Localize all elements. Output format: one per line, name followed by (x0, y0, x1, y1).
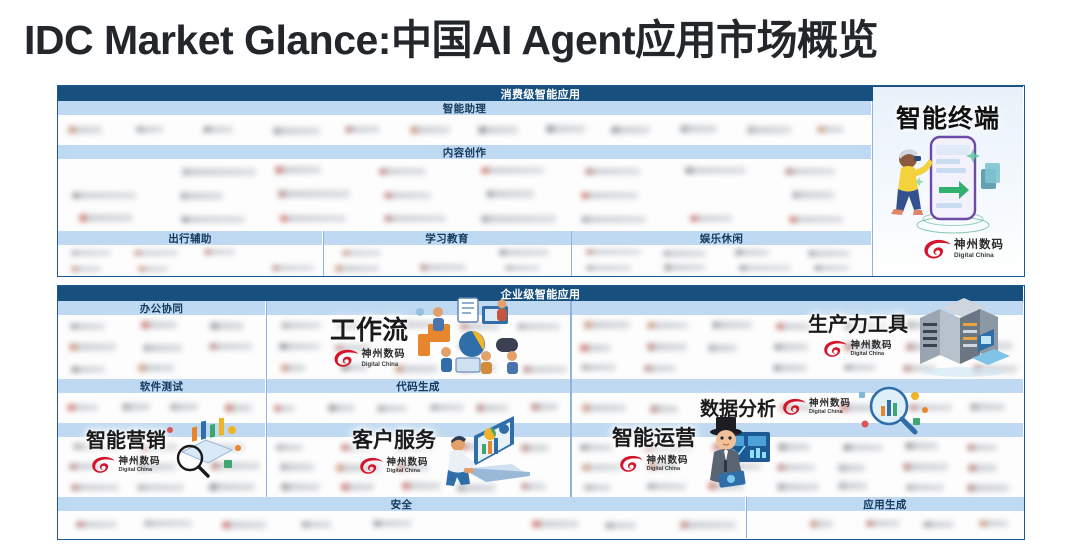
brand-name-en: Digital China (646, 467, 688, 473)
divider-enterprise-col1 (266, 301, 268, 497)
brand-name-cn: 神州数码 (646, 456, 688, 466)
vendor-logo-placeholder (420, 264, 466, 271)
digital-china-swoosh-icon (333, 349, 359, 369)
vendor-logo-placeholder (584, 484, 611, 492)
vendor-logo-placeholder (272, 265, 314, 272)
vendor-logo-placeholder (69, 343, 117, 351)
digital-china-logo: 神州数码 Digital China (333, 349, 406, 369)
enterprise-logo-row-workflow (267, 315, 570, 379)
enterprise-col-label-software-testing: 软件测试 (58, 379, 265, 393)
vendor-logo-placeholder (79, 214, 132, 222)
vendor-logo-placeholder (499, 249, 549, 256)
vendor-logo-placeholder (521, 444, 548, 452)
vendor-logo-placeholder (486, 190, 534, 198)
vendor-logo-placeholder (903, 463, 949, 471)
enterprise-logo-row-software-testing (58, 393, 265, 423)
digital-china-logo: 神州数码 Digital China (91, 456, 160, 475)
vendor-logo-placeholder (838, 482, 867, 490)
vendor-logo-placeholder (810, 520, 833, 528)
vendor-logo-placeholder (584, 321, 630, 329)
vendor-logo-placeholder (211, 462, 261, 470)
vendor-logo-placeholder (225, 404, 252, 412)
vendor-logo-placeholder (611, 126, 650, 134)
digital-china-swoosh-icon (823, 340, 847, 359)
vendor-logo-placeholder (481, 167, 545, 175)
vendor-logo-placeholder (586, 265, 631, 272)
vendor-logo-placeholder (137, 484, 184, 492)
divider-education-entertainment (571, 231, 573, 276)
vendor-logo-placeholder (459, 342, 485, 350)
vendor-logo-placeholder (377, 405, 407, 413)
divider-enterprise-col2 (570, 301, 572, 497)
vendor-logo-placeholder (906, 343, 945, 351)
vendor-logo-placeholder (838, 464, 864, 472)
vendor-logo-placeholder (647, 343, 687, 351)
brand-name-en: Digital China (386, 469, 428, 475)
vendor-logo-placeholder (903, 365, 936, 373)
brand-name-cn: 神州数码 (809, 399, 851, 409)
consumer-logo-row-education (324, 245, 571, 276)
vendor-logo-placeholder (582, 404, 626, 412)
vendor-logo-placeholder (970, 403, 1006, 411)
vendor-logo-placeholder (141, 321, 176, 329)
enterprise-col-label-code-generation: 代码生成 (267, 379, 570, 393)
digital-china-swoosh-icon (359, 457, 383, 476)
vendor-logo-placeholder (384, 192, 430, 200)
vendor-logo-placeholder (967, 484, 1009, 492)
vendor-logo-placeholder (276, 444, 303, 452)
vendor-logo-placeholder (906, 484, 944, 492)
digital-china-swoosh-icon (782, 398, 806, 417)
vendor-logo-placeholder (843, 444, 883, 452)
vendor-logo-placeholder (735, 249, 769, 256)
vendor-logo-placeholder (430, 404, 464, 412)
enterprise-feature-productivity: 生产力工具 神州数码 Digital China (808, 308, 908, 359)
logo-grid (58, 115, 871, 145)
logo-grid (267, 393, 570, 423)
vendor-logo-placeholder (71, 250, 111, 257)
consumer-logo-row-travel (58, 245, 322, 276)
vendor-logo-placeholder (532, 520, 578, 528)
enterprise-row1-band-right (571, 301, 1023, 315)
enterprise-logo-row-security (58, 511, 745, 538)
enterprise-logo-row-productivity (571, 315, 1023, 379)
consumer-logo-row-smart-assistant (58, 115, 871, 145)
vendor-logo-placeholder (180, 192, 223, 200)
vendor-logo-placeholder (345, 126, 380, 134)
vendor-logo-placeholder (478, 126, 518, 134)
vendor-logo-placeholder (71, 366, 104, 374)
vendor-logo-placeholder (708, 344, 737, 352)
vendor-logo-placeholder (792, 191, 834, 199)
logo-grid (58, 245, 322, 276)
vendor-logo-placeholder (663, 250, 707, 257)
vendor-logo-placeholder (278, 190, 350, 198)
vendor-logo-placeholder (979, 520, 1009, 528)
vendor-logo-placeholder (905, 321, 935, 329)
brand-name-cn: 神州数码 (850, 341, 892, 351)
vendor-logo-placeholder (476, 404, 508, 412)
vendor-logo-placeholder (967, 444, 997, 452)
vendor-logo-placeholder (203, 126, 233, 134)
vendor-logo-placeholder (685, 167, 747, 175)
digital-china-logo: 神州数码 Digital China (359, 457, 428, 476)
vendor-logo-placeholder (410, 126, 450, 134)
enterprise-logo-row-office-collab (58, 315, 265, 379)
logo-grid (267, 315, 570, 379)
vendor-logo-placeholder (605, 522, 636, 530)
vendor-logo-placeholder (209, 483, 255, 491)
vendor-logo-placeholder (76, 521, 117, 529)
vendor-logo-placeholder (379, 168, 426, 176)
consumer-col-label-travel: 出行辅助 (58, 231, 322, 245)
logo-grid (58, 511, 745, 538)
person-with-smartphone-ar-illustration (881, 129, 1015, 237)
logo-grid (324, 245, 571, 276)
vendor-logo-placeholder (778, 443, 810, 451)
enterprise-feature-marketing: 智能营销 神州数码 Digital China (86, 424, 166, 475)
vendor-logo-placeholder (585, 168, 639, 176)
enterprise-col-label-office-collab: 办公协同 (58, 301, 265, 315)
vendor-logo-placeholder (279, 343, 320, 351)
vendor-logo-placeholder (647, 322, 689, 330)
enterprise-feature-operations: 智能运营 神州数码 Digital China (612, 422, 696, 474)
enterprise-feature-data-analysis: 数据分析 神州数码 Digital China (700, 394, 851, 421)
vendor-logo-placeholder (67, 404, 98, 412)
enterprise-col-label-app-generation: 应用生成 (747, 497, 1024, 511)
consumer-col-label-education: 学习教育 (324, 231, 571, 245)
vendor-logo-placeholder (647, 483, 686, 491)
vendor-logo-placeholder (204, 249, 234, 256)
vendor-logo-placeholder (866, 520, 901, 528)
logo-grid (571, 315, 1023, 379)
vendor-logo-placeholder (460, 323, 500, 331)
digital-china-swoosh-icon (619, 455, 643, 474)
workflow-label: 工作流 (330, 310, 408, 347)
brand-name-en: Digital China (954, 253, 1004, 260)
digital-china-swoosh-icon (91, 456, 115, 475)
vendor-logo-placeholder (328, 404, 355, 412)
brand-name-cn: 神州数码 (118, 457, 160, 467)
vendor-logo-placeholder (923, 521, 954, 529)
vendor-logo-placeholder (481, 215, 556, 223)
enterprise-col-label-security: 安全 (58, 497, 745, 511)
vendor-logo-placeholder (581, 364, 616, 372)
enterprise-feature-customer-service: 客户服务 神州数码 Digital China (352, 424, 436, 476)
vendor-logo-placeholder (341, 483, 373, 491)
logo-grid (58, 159, 871, 231)
digital-china-logo: 神州数码 Digital China (619, 455, 688, 474)
digital-china-logo: 神州数码 Digital China (923, 239, 1004, 261)
vendor-logo-placeholder (581, 192, 638, 200)
vendor-logo-placeholder (580, 444, 613, 452)
brand-name-en: Digital China (362, 362, 406, 368)
brand-name-cn: 神州数码 (386, 458, 428, 468)
vendor-logo-placeholder (134, 250, 178, 257)
vendor-logo-placeholder (181, 216, 244, 224)
vendor-logo-placeholder (138, 364, 174, 372)
vendor-logo-placeholder (521, 483, 547, 491)
page-title: IDC Market Glance:中国AI Agent应用市场概览 (24, 14, 1064, 66)
vendor-logo-placeholder (71, 266, 100, 273)
logo-grid (58, 393, 265, 423)
vendor-logo-placeholder (664, 264, 705, 271)
vendor-logo-placeholder (747, 126, 791, 134)
vendor-logo-placeholder (708, 482, 744, 490)
vendor-logo-placeholder (143, 344, 181, 352)
logo-grid (747, 511, 1024, 538)
divider-security-appgen (746, 497, 748, 538)
vendor-logo-placeholder (281, 364, 305, 372)
consumer-col-label-entertainment: 娱乐休闲 (572, 231, 871, 245)
vendor-logo-placeholder (774, 343, 808, 351)
customer-service-label: 客户服务 (352, 424, 436, 454)
vendor-logo-placeholder (281, 483, 320, 491)
vendor-logo-placeholder (138, 266, 168, 273)
vendor-logo-placeholder (531, 403, 559, 411)
vendor-logo-placeholder (209, 343, 252, 351)
vendor-logo-placeholder (650, 405, 678, 413)
consumer-row-label-smart-assistant: 智能助理 (58, 101, 871, 115)
operations-label: 智能运营 (612, 422, 696, 452)
vendor-logo-placeholder (690, 215, 732, 223)
vendor-logo-placeholder (335, 265, 379, 272)
vendor-logo-placeholder (274, 405, 295, 413)
marketing-label: 智能营销 (86, 424, 166, 453)
enterprise-section-header: 企业级智能应用 (58, 286, 1023, 301)
enterprise-feature-workflow: 工作流 神州数码 Digital China (330, 310, 408, 369)
vendor-logo-placeholder (844, 364, 876, 372)
vendor-logo-placeholder (281, 322, 321, 330)
vendor-logo-placeholder (460, 443, 486, 451)
vendor-logo-placeholder (70, 323, 105, 331)
vendor-logo-placeholder (968, 464, 997, 472)
divider-travel-education (323, 231, 325, 276)
logo-grid (58, 315, 265, 379)
vendor-logo-placeholder (586, 249, 640, 256)
productivity-label: 生产力工具 (808, 308, 908, 337)
vendor-logo-placeholder (517, 323, 559, 331)
vendor-logo-placeholder (182, 168, 256, 176)
digital-china-logo: 神州数码 Digital China (823, 340, 892, 359)
vendor-logo-placeholder (713, 443, 757, 451)
vendor-logo-placeholder (580, 344, 611, 352)
vendor-logo-placeholder (972, 342, 1013, 350)
vendor-logo-placeholder (205, 444, 243, 452)
consumer-row-label-content-creation: 内容创作 (58, 145, 871, 159)
vendor-logo-placeholder (457, 484, 496, 492)
brand-name-cn: 神州数码 (954, 240, 1004, 252)
vendor-logo-placeholder (402, 482, 441, 490)
brand-name-en: Digital China (118, 468, 160, 474)
vendor-logo-placeholder (210, 322, 245, 330)
vendor-logo-placeholder (773, 364, 807, 372)
digital-china-swoosh-icon (923, 239, 951, 261)
vendor-logo-placeholder (280, 463, 314, 471)
brand-name-en: Digital China (850, 352, 892, 358)
vendor-logo-placeholder (144, 520, 192, 528)
enterprise-logo-row-app-generation (747, 511, 1024, 538)
consumer-logo-row-entertainment (572, 245, 871, 276)
vendor-logo-placeholder (712, 321, 752, 329)
vendor-logo-placeholder (505, 265, 539, 272)
brand-name-cn: 神州数码 (362, 350, 406, 360)
vendor-logo-placeholder (122, 403, 150, 411)
vendor-logo-placeholder (523, 366, 567, 374)
vendor-logo-placeholder (715, 463, 761, 471)
vendor-logo-placeholder (785, 168, 834, 176)
vendor-logo-placeholder (581, 216, 646, 224)
vendor-logo-placeholder (777, 464, 815, 472)
enterprise-row2-band-right (571, 379, 1023, 393)
data-analysis-label: 数据分析 (700, 394, 776, 421)
vendor-logo-placeholder (280, 215, 346, 223)
vendor-logo-placeholder (301, 521, 332, 529)
vendor-logo-placeholder (72, 192, 136, 200)
vendor-logo-placeholder (275, 166, 321, 174)
market-glance-infographic: IDC Market Glance:中国AI Agent应用市场概览 消费级智能… (0, 0, 1080, 556)
vendor-logo-placeholder (777, 483, 819, 491)
vendor-logo-placeholder (905, 442, 939, 450)
logo-grid (572, 245, 871, 276)
smart-terminal-label: 智能终端 (873, 99, 1023, 135)
vendor-logo-placeholder (342, 250, 380, 257)
vendor-logo-placeholder (222, 521, 266, 529)
vendor-logo-placeholder (461, 364, 496, 372)
vendor-logo-placeholder (273, 127, 320, 135)
enterprise-logo-row-code-generation (267, 393, 570, 423)
vendor-logo-placeholder (973, 365, 1017, 373)
vendor-logo-placeholder (644, 365, 677, 373)
vendor-logo-placeholder (680, 125, 717, 133)
vendor-logo-placeholder (739, 265, 792, 272)
vendor-logo-placeholder (68, 126, 102, 134)
vendor-logo-placeholder (808, 250, 849, 257)
brand-name-en: Digital China (809, 410, 851, 416)
vendor-logo-placeholder (170, 403, 198, 411)
vendor-logo-placeholder (817, 126, 845, 134)
vendor-logo-placeholder (136, 126, 163, 134)
vendor-logo-placeholder (373, 520, 412, 528)
consumer-logo-row-content-creation (58, 159, 871, 231)
vendor-logo-placeholder (909, 404, 952, 412)
consumer-feature-smart-terminal: 智能终端 (873, 87, 1023, 276)
enterprise-row1-band-mid (267, 301, 570, 315)
vendor-logo-placeholder (71, 484, 119, 492)
vendor-logo-placeholder (546, 125, 585, 133)
digital-china-logo: 神州数码 Digital China (782, 398, 851, 417)
vendor-logo-placeholder (384, 215, 447, 223)
vendor-logo-placeholder (680, 521, 736, 529)
vendor-logo-placeholder (789, 216, 842, 224)
vendor-logo-placeholder (814, 265, 849, 272)
